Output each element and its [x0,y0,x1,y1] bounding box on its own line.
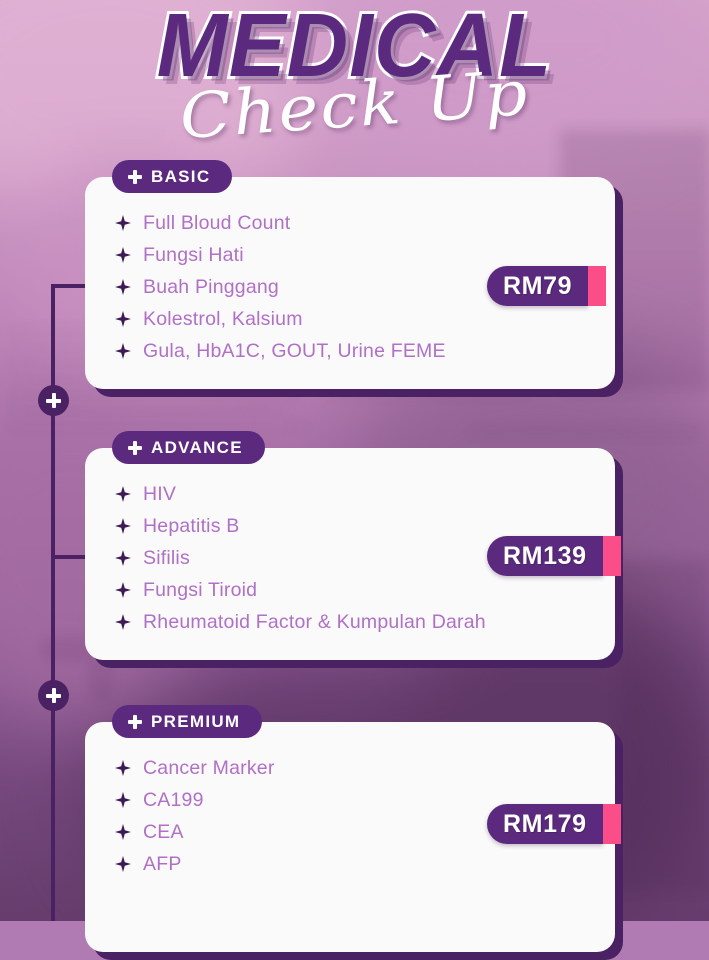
list-item-label: Hepatitis B [143,515,240,538]
plus-icon [128,441,142,455]
plus-icon [46,393,61,408]
rail-plus-node-1 [38,385,69,416]
sparkle-icon [115,614,131,630]
plan-tag-advance: ADVANCE [112,431,265,464]
list-item-label: Sifilis [143,547,190,570]
list-item: Fungsi Tiroid [115,574,601,606]
list-item: Rheumatoid Factor & Kumpulan Darah [115,606,601,638]
sparkle-icon [115,279,131,295]
rail-vertical-line [51,284,55,921]
list-item-label: Rheumatoid Factor & Kumpulan Darah [143,611,486,634]
list-item-label: CA199 [143,789,204,812]
list-item-label: Cancer Marker [143,757,275,780]
price-accent-bar [588,266,606,306]
plan-tag-premium: PREMIUM [112,705,262,738]
plan-tag-label: ADVANCE [151,438,243,458]
list-item: Full Bloud Count [115,207,601,239]
list-item-label: AFP [143,853,182,876]
plan-tag-basic: BASIC [112,160,232,193]
sparkle-icon [115,550,131,566]
sparkle-icon [115,518,131,534]
plus-icon [128,170,142,184]
price-badge-premium: RM179 [487,804,621,844]
price-accent-bar [603,536,621,576]
list-item: AFP [115,848,601,880]
sparkle-icon [115,824,131,840]
price-value: RM139 [487,536,603,576]
plan-tag-label: PREMIUM [151,712,240,732]
sparkle-icon [115,792,131,808]
list-item-label: Fungsi Tiroid [143,579,257,602]
sparkle-icon [115,856,131,872]
sparkle-icon [115,760,131,776]
list-item-label: HIV [143,483,176,506]
list-item: Cancer Marker [115,752,601,784]
sparkle-icon [115,215,131,231]
list-item: HIV [115,478,601,510]
sparkle-icon [115,486,131,502]
rail-plus-node-2 [38,680,69,711]
list-item-label: CEA [143,821,184,844]
list-item-label: Gula, HbA1C, GOUT, Urine FEME [143,340,446,363]
list-item-label: Fungsi Hati [143,244,244,267]
sparkle-icon [115,343,131,359]
list-item-label: Kolestrol, Kalsium [143,308,303,331]
plus-icon [46,688,61,703]
sparkle-icon [115,247,131,263]
list-item: Kolestrol, Kalsium [115,303,601,335]
sparkle-icon [115,311,131,327]
list-item-label: Buah Pinggang [143,276,279,299]
plan-tag-label: BASIC [151,167,210,187]
list-item-label: Full Bloud Count [143,212,290,235]
price-badge-basic: RM79 [487,266,606,306]
price-value: RM179 [487,804,603,844]
price-badge-advance: RM139 [487,536,621,576]
price-accent-bar [603,804,621,844]
plus-icon [128,715,142,729]
sparkle-icon [115,582,131,598]
list-item: Gula, HbA1C, GOUT, Urine FEME [115,335,601,367]
price-value: RM79 [487,266,588,306]
